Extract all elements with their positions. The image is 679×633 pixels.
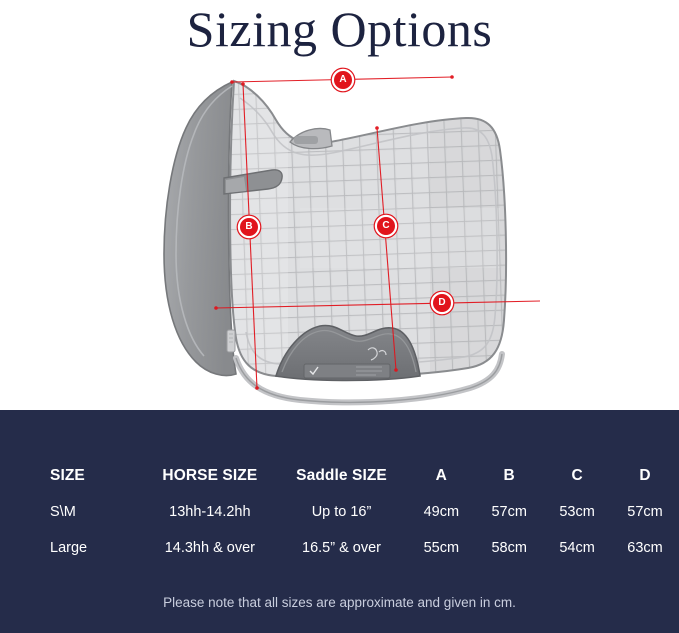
sizing-options-page: Sizing Options	[0, 0, 679, 633]
table-row: Large 14.3hh & over 16.5” & over 55cm 58…	[0, 530, 679, 566]
header-a: A	[407, 458, 475, 494]
cell-b: 57cm	[475, 494, 543, 530]
size-chart-panel: SIZE HORSE SIZE Saddle SIZE A B C D S\M …	[0, 410, 679, 633]
header-d: D	[611, 458, 679, 494]
pad-front-flap	[164, 82, 236, 376]
saddle-pad-illustration: A B C D	[0, 58, 679, 410]
measure-badge-c: C	[377, 217, 395, 235]
page-title: Sizing Options	[0, 0, 679, 58]
cell-b: 58cm	[475, 530, 543, 566]
table-head: SIZE HORSE SIZE Saddle SIZE A B C D	[0, 458, 679, 494]
header-size: SIZE	[0, 458, 144, 494]
header-saddle-size: Saddle SIZE	[276, 458, 408, 494]
size-chart-note: Please note that all sizes are approxima…	[0, 595, 679, 610]
cell-c: 54cm	[543, 530, 611, 566]
table-header-row: SIZE HORSE SIZE Saddle SIZE A B C D	[0, 458, 679, 494]
measure-badge-a: A	[334, 71, 352, 89]
saddle-pad-svg	[0, 58, 679, 410]
cell-size: S\M	[0, 494, 144, 530]
measure-badge-d: D	[433, 294, 451, 312]
size-chart-table: SIZE HORSE SIZE Saddle SIZE A B C D S\M …	[0, 458, 679, 566]
header-c: C	[543, 458, 611, 494]
cell-a: 55cm	[407, 530, 475, 566]
cell-d: 57cm	[611, 494, 679, 530]
cell-c: 53cm	[543, 494, 611, 530]
pad-wither-detail	[290, 129, 332, 149]
cell-horse-size: 13hh-14.2hh	[144, 494, 276, 530]
measure-badge-b: B	[240, 218, 258, 236]
table-row: S\M 13hh-14.2hh Up to 16” 49cm 57cm 53cm…	[0, 494, 679, 530]
title-block: Sizing Options	[0, 0, 679, 62]
cell-horse-size: 14.3hh & over	[144, 530, 276, 566]
cell-size: Large	[0, 530, 144, 566]
header-horse-size: HORSE SIZE	[144, 458, 276, 494]
cell-saddle-size: 16.5” & over	[276, 530, 408, 566]
cell-a: 49cm	[407, 494, 475, 530]
header-b: B	[475, 458, 543, 494]
cell-d: 63cm	[611, 530, 679, 566]
cell-saddle-size: Up to 16”	[276, 494, 408, 530]
pad-label-tab	[227, 330, 235, 352]
table-body: S\M 13hh-14.2hh Up to 16” 49cm 57cm 53cm…	[0, 494, 679, 566]
